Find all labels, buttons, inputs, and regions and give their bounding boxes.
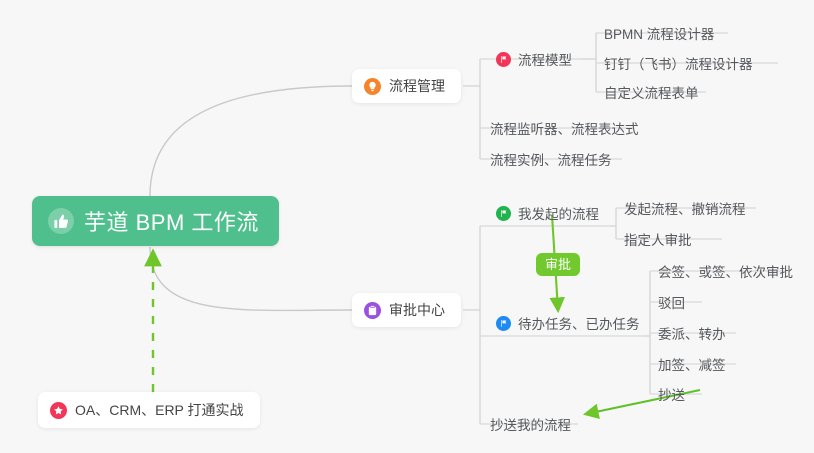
- node-label: 待办任务、已办任务: [518, 313, 640, 333]
- edge-root-to-process-management: [150, 86, 352, 196]
- node-delegate-transfer[interactable]: 委派、转办: [656, 320, 732, 346]
- node-label: 驳回: [658, 292, 685, 312]
- root-node[interactable]: 芋道 BPM 工作流: [32, 196, 279, 246]
- node-reject[interactable]: 驳回: [656, 289, 691, 315]
- node-dingtalk-feishu-designer[interactable]: 钉钉（飞书）流程设计器: [602, 50, 759, 76]
- floating-node-label: OA、CRM、ERP 打通实战: [75, 400, 244, 420]
- node-label: 自定义流程表单: [604, 82, 699, 102]
- clipboard-icon: [364, 302, 381, 319]
- node-cc[interactable]: 抄送: [656, 381, 691, 407]
- node-label: 我发起的流程: [518, 203, 599, 223]
- node-label: 抄送: [658, 384, 685, 404]
- floating-node-oa-crm-erp[interactable]: OA、CRM、ERP 打通实战: [38, 392, 260, 428]
- branch-label: 流程管理: [389, 76, 445, 96]
- node-label: 发起流程、撤销流程: [624, 198, 746, 218]
- thumbs-up-icon: [48, 208, 74, 234]
- node-cc-to-me-processes[interactable]: 抄送我的流程: [488, 411, 577, 437]
- node-label: BPMN 流程设计器: [604, 23, 714, 43]
- node-process-instance-task[interactable]: 流程实例、流程任务: [488, 146, 618, 172]
- node-label: 流程模型: [518, 49, 572, 69]
- node-label: 流程实例、流程任务: [490, 149, 612, 169]
- node-label: 加签、减签: [658, 354, 726, 374]
- node-custom-process-form[interactable]: 自定义流程表单: [602, 79, 705, 105]
- branch-node-approval-center[interactable]: 审批中心: [352, 293, 461, 327]
- node-todo-done-tasks[interactable]: 待办任务、已办任务: [494, 310, 646, 336]
- node-label: 流程监听器、流程表达式: [490, 118, 639, 138]
- root-node-label: 芋道 BPM 工作流: [84, 205, 259, 237]
- node-label: 抄送我的流程: [490, 414, 571, 434]
- node-label: 委派、转办: [658, 323, 726, 343]
- mindmap-canvas: 芋道 BPM 工作流 流程管理 流程模型 BPMN 流程设计器 钉钉（飞书）流程…: [0, 0, 814, 453]
- node-label: 指定人审批: [624, 229, 692, 249]
- node-countersign-orsign-sequential[interactable]: 会签、或签、依次审批: [656, 258, 799, 284]
- node-bpmn-designer[interactable]: BPMN 流程设计器: [602, 20, 720, 46]
- flag-icon: [496, 316, 511, 331]
- branch-node-process-management[interactable]: 流程管理: [352, 69, 461, 103]
- flag-icon: [496, 52, 511, 67]
- node-start-cancel-process[interactable]: 发起流程、撤销流程: [622, 195, 752, 221]
- edge-root-to-approval-center: [150, 247, 352, 310]
- node-my-started-processes[interactable]: 我发起的流程: [494, 200, 605, 226]
- node-add-remove-sign[interactable]: 加签、减签: [656, 351, 732, 377]
- node-assigned-approver[interactable]: 指定人审批: [622, 226, 698, 252]
- branch-label: 审批中心: [389, 300, 445, 320]
- flag-icon: [496, 206, 511, 221]
- annotation-pill-approval: 审批: [536, 253, 580, 276]
- star-icon: [50, 402, 67, 419]
- node-process-listener-expression[interactable]: 流程监听器、流程表达式: [488, 115, 645, 141]
- node-label: 会签、或签、依次审批: [658, 261, 793, 281]
- node-process-model[interactable]: 流程模型: [494, 46, 578, 72]
- node-label: 钉钉（飞书）流程设计器: [604, 53, 753, 73]
- lightbulb-icon: [364, 78, 381, 95]
